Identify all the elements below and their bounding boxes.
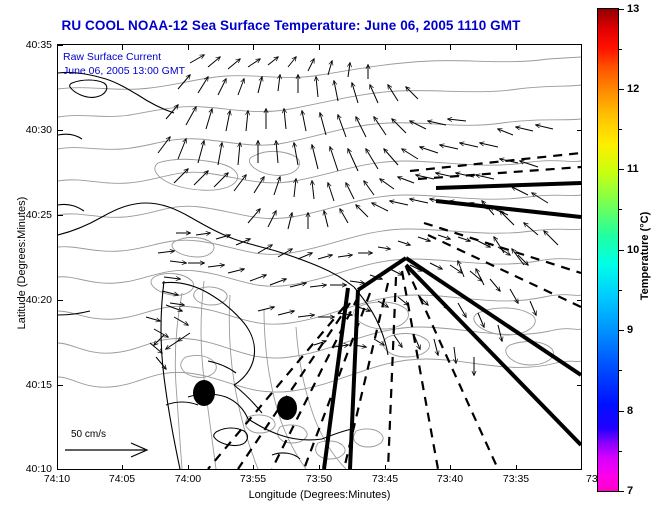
map-canvas: [58, 45, 581, 469]
y-tick-right: [577, 300, 582, 301]
current-vector-field: [146, 55, 558, 375]
scale-bar-label: 50 cm/s: [61, 429, 169, 440]
y-axis-title: Latitude (Degrees:Minutes): [16, 153, 28, 373]
x-tick-top: [122, 45, 123, 50]
x-tick: [581, 465, 582, 470]
annotation-line-1: Raw Surface Current: [63, 51, 185, 65]
colorbar-label: 13: [627, 3, 639, 15]
x-tick-top: [516, 45, 517, 50]
map-plot-area[interactable]: Raw Surface Current June 06, 2005 13:00 …: [57, 44, 582, 470]
x-tick: [122, 465, 123, 470]
x-tick: [188, 465, 189, 470]
colorbar-tick: [619, 169, 624, 170]
coastline-group: [58, 72, 388, 469]
x-tick: [253, 465, 254, 470]
colorbar-label: 12: [627, 83, 639, 95]
scale-bar-arrow-icon: [61, 440, 169, 460]
x-tick: [450, 465, 451, 470]
colorbar-tick: [619, 411, 624, 412]
y-tick-label: 40:30: [26, 124, 52, 136]
y-tick-right: [577, 130, 582, 131]
x-tick: [319, 465, 320, 470]
colorbar-label: 9: [627, 324, 633, 336]
colorbar-tick: [619, 250, 624, 251]
x-tick-top: [319, 45, 320, 50]
colorbar-tick: [619, 491, 624, 492]
y-tick-label: 40:35: [26, 39, 52, 51]
colorbar-label: 8: [627, 405, 633, 417]
colorbar-minor-tick: [619, 451, 622, 452]
x-tick-label: 73:35: [503, 473, 529, 485]
y-tick: [58, 130, 63, 131]
x-tick-top: [385, 45, 386, 50]
colorbar-tick: [619, 9, 624, 10]
x-tick-label: 73:50: [306, 473, 332, 485]
x-axis-title: Longitude (Degrees:Minutes): [57, 489, 582, 501]
colorbar-minor-tick: [619, 129, 622, 130]
y-tick: [58, 469, 63, 470]
y-tick: [58, 45, 63, 46]
x-tick: [516, 465, 517, 470]
x-tick-label: 73:45: [372, 473, 398, 485]
radar-sector-group: [324, 183, 581, 469]
x-tick-top: [188, 45, 189, 50]
y-tick-label: 40:25: [26, 209, 52, 221]
x-tick-label: 74:00: [175, 473, 201, 485]
x-tick-label: 73:55: [240, 473, 266, 485]
colorbar-title: Temperature (°C): [639, 166, 651, 346]
raw-surface-current-annotation: Raw Surface Current June 06, 2005 13:00 …: [63, 51, 185, 78]
colorbar-minor-tick: [619, 209, 622, 210]
y-tick: [58, 300, 63, 301]
x-tick-top: [253, 45, 254, 50]
screenshot-root: RU COOL NOAA-12 Sea Surface Temperature:…: [0, 0, 651, 515]
colorbar-label: 7: [627, 485, 633, 497]
colorbar-minor-tick: [619, 49, 622, 50]
colorbar-minor-tick: [619, 370, 622, 371]
sst-contour-group: [58, 57, 581, 469]
y-tick-label: 40:20: [26, 294, 52, 306]
temperature-colorbar[interactable]: [597, 8, 619, 492]
y-tick-right: [577, 385, 582, 386]
vector-scale-bar: 50 cm/s: [61, 429, 169, 465]
x-tick-label: 74:05: [109, 473, 135, 485]
colorbar-minor-tick: [619, 290, 622, 291]
y-tick: [58, 215, 63, 216]
y-tick-label: 40:10: [26, 463, 52, 475]
x-tick-label: 73:40: [437, 473, 463, 485]
x-tick: [385, 465, 386, 470]
colorbar-tick: [619, 89, 624, 90]
y-tick-label: 40:15: [26, 379, 52, 391]
y-tick: [58, 385, 63, 386]
annotation-line-2: June 06, 2005 13:00 GMT: [63, 65, 185, 79]
colorbar-label: 11: [627, 163, 639, 175]
colorbar-label: 10: [627, 244, 639, 256]
colorbar-tick: [619, 330, 624, 331]
page-title: RU COOL NOAA-12 Sea Surface Temperature:…: [0, 18, 582, 33]
x-tick-top: [450, 45, 451, 50]
y-tick-right: [577, 215, 582, 216]
